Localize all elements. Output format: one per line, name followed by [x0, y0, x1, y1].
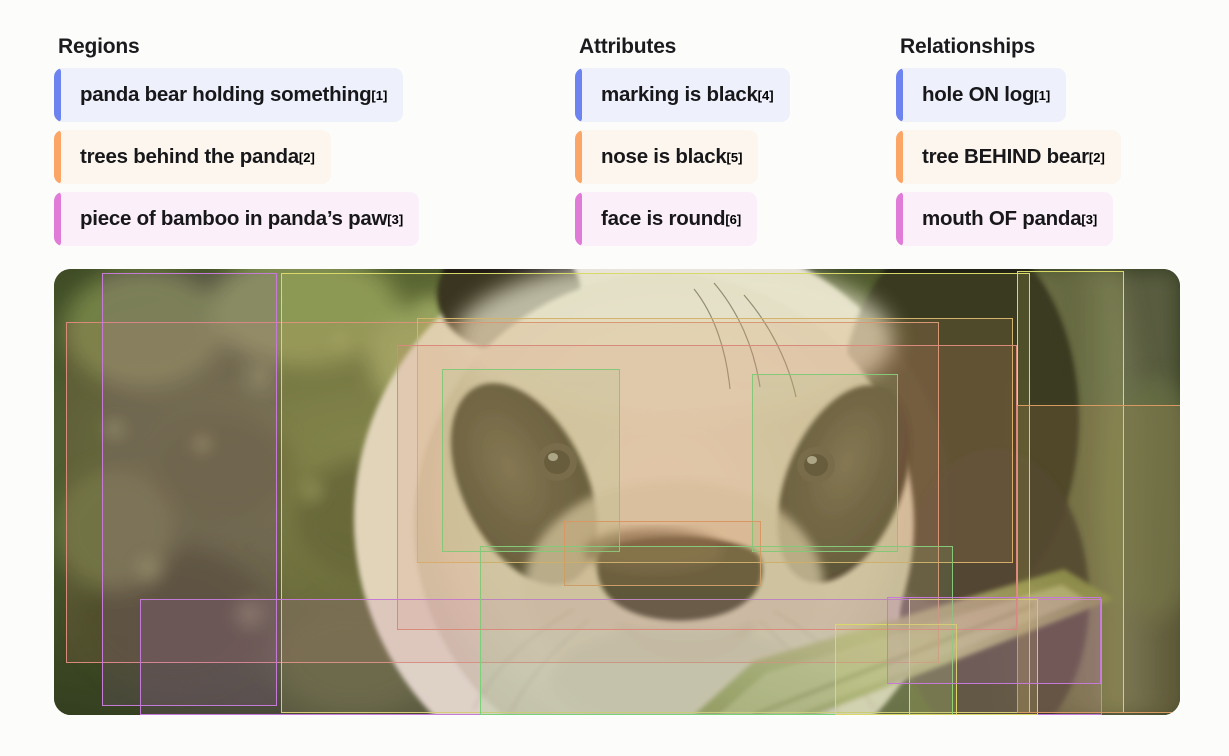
chip-accent-bar: [575, 68, 582, 122]
chip-superscript: [3]: [1081, 212, 1097, 227]
chip-label: marking is black: [582, 85, 758, 106]
chip-attribute-1[interactable]: marking is black[4]: [575, 68, 790, 122]
chip-label: nose is black: [582, 147, 727, 168]
chip-accent-bar: [54, 130, 61, 184]
chip-region-1[interactable]: panda bear holding something[1]: [54, 68, 403, 122]
chip-superscript: [2]: [299, 150, 315, 165]
chip-region-3[interactable]: piece of bamboo in panda’s paw[3]: [54, 192, 419, 246]
column-relationships: Relationships hole ON log[1] tree BEHIND…: [896, 36, 1229, 260]
chip-label: trees behind the panda: [61, 147, 299, 168]
chip-list-attributes: marking is black[4] nose is black[5] fac…: [575, 68, 896, 246]
chip-superscript: [5]: [727, 150, 743, 165]
column-title-regions: Regions: [58, 36, 575, 57]
chip-superscript: [3]: [387, 212, 403, 227]
chip-relationship-3[interactable]: mouth OF panda[3]: [896, 192, 1113, 246]
column-regions: Regions panda bear holding something[1] …: [54, 36, 575, 260]
chip-superscript: [2]: [1089, 150, 1105, 165]
chip-relationship-2[interactable]: tree BEHIND bear[2]: [896, 130, 1121, 184]
chip-accent-bar: [896, 68, 903, 122]
chip-label: panda bear holding something: [61, 85, 371, 106]
chip-label: tree BEHIND bear: [903, 147, 1089, 168]
chip-attribute-2[interactable]: nose is black[5]: [575, 130, 758, 184]
chip-label: hole ON log: [903, 85, 1034, 106]
chip-relationship-1[interactable]: hole ON log[1]: [896, 68, 1066, 122]
panda-photograph: [54, 269, 1180, 715]
column-attributes: Attributes marking is black[4] nose is b…: [575, 36, 896, 260]
chip-accent-bar: [54, 192, 61, 246]
chip-accent-bar: [54, 68, 61, 122]
chip-accent-bar: [575, 130, 582, 184]
chip-attribute-3[interactable]: face is round[6]: [575, 192, 757, 246]
chip-label: piece of bamboo in panda’s paw: [61, 209, 387, 230]
chip-accent-bar: [575, 192, 582, 246]
chip-list-relationships: hole ON log[1] tree BEHIND bear[2] mouth…: [896, 68, 1229, 246]
column-title-attributes: Attributes: [579, 36, 896, 57]
chip-superscript: [4]: [758, 88, 774, 103]
chip-accent-bar: [896, 192, 903, 246]
chip-superscript: [6]: [725, 212, 741, 227]
chip-region-2[interactable]: trees behind the panda[2]: [54, 130, 331, 184]
column-title-relationships: Relationships: [900, 36, 1229, 57]
chip-list-regions: panda bear holding something[1] trees be…: [54, 68, 575, 246]
chip-label: face is round: [582, 209, 725, 230]
annotation-panel: Regions panda bear holding something[1] …: [0, 0, 1229, 260]
chip-superscript: [1]: [371, 88, 387, 103]
annotated-image-card[interactable]: [54, 269, 1180, 715]
chip-accent-bar: [896, 130, 903, 184]
chip-superscript: [1]: [1034, 88, 1050, 103]
chip-label: mouth OF panda: [903, 209, 1081, 230]
